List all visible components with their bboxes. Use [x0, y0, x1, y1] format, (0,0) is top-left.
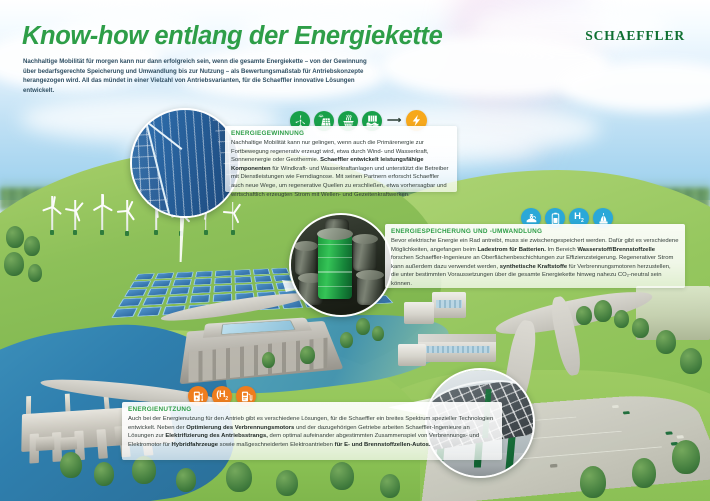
building-roof: [418, 334, 496, 342]
tree: [372, 326, 384, 341]
solar-panel-photo-callout: [130, 108, 240, 218]
tree: [632, 458, 656, 488]
tree: [576, 306, 592, 325]
energiegewinnung-body: Nachhaltige Mobilität kann nur gelingen,…: [231, 139, 452, 199]
tree: [28, 264, 42, 282]
text-run-bold: Elektrifizierung des Antriebsstrangs,: [165, 433, 268, 439]
energiespeicherung-heading: ENERGIESPEICHERUNG UND -UMWANDLUNG: [391, 228, 679, 235]
energienutzung-panel: ENERGIENUTZUNG Auch bei der Energienutzu…: [122, 402, 502, 460]
page-subtitle: Nachhaltige Mobilität für morgen kann nu…: [23, 57, 368, 95]
text-run-bold: für E- und Brennstoffzellen-Autos.: [335, 442, 431, 448]
building: [398, 344, 426, 366]
wind-turbine: [92, 194, 112, 234]
tree: [60, 452, 82, 478]
car: [623, 411, 630, 414]
text-run: Im Bereich: [546, 247, 577, 253]
tree: [4, 252, 24, 276]
car: [665, 431, 673, 435]
tree: [94, 462, 114, 486]
tree: [262, 352, 275, 368]
tree: [132, 456, 156, 484]
tree: [632, 318, 649, 338]
tree: [330, 462, 354, 490]
text-run-bold: Wasserstoff/Brennstoffzelle: [577, 247, 655, 253]
arrow-right-icon: ⟶: [387, 116, 401, 126]
building-windows: [436, 300, 462, 308]
text-run-bold: synthetische Kraftstoffe: [500, 264, 567, 270]
text-run-bold: Optimierung des Verbrennungsmotors: [186, 425, 294, 431]
tree: [594, 300, 612, 322]
energienutzung-heading: ENERGIENUTZUNG: [128, 406, 496, 413]
car: [612, 405, 619, 408]
energiespeicherung-body: Bevor elektrische Energie ein Rad antrei…: [391, 237, 679, 289]
tree: [656, 330, 676, 354]
tree: [356, 318, 370, 335]
tree: [680, 348, 702, 374]
building: [404, 302, 434, 324]
tree: [24, 236, 40, 256]
tree: [226, 462, 252, 492]
tree: [580, 466, 606, 498]
hydrogen-label: (H2: [216, 390, 227, 402]
text-run: sowie maßgeschneiderten Elektroantrieben: [218, 442, 335, 448]
building-windows: [424, 346, 490, 353]
tree: [6, 226, 24, 248]
text-run-bold: Hybridfahrzeuge: [172, 442, 218, 448]
infographic-poster: Know-how entlang der Energiekette Nachha…: [0, 0, 710, 501]
wind-turbine: [66, 200, 84, 234]
energiespeicherung-panel: ENERGIESPEICHERUNG UND -UMWANDLUNG Bevor…: [385, 224, 685, 288]
hydrogen-label: H2: [574, 212, 584, 224]
tree: [176, 468, 196, 492]
wind-turbine: [42, 196, 62, 234]
tree: [340, 332, 353, 348]
schaeffler-logo: SCHAEFFLER: [585, 28, 685, 44]
energiegewinnung-heading: ENERGIEGEWINNUNG: [231, 130, 452, 137]
tree: [300, 346, 315, 364]
car: [550, 464, 558, 468]
tree: [672, 440, 700, 474]
energiegewinnung-panel: ENERGIEGEWINNUNG Nachhaltige Mobilität k…: [225, 126, 457, 192]
poster-header: Know-how entlang der Energiekette Nachha…: [0, 0, 710, 105]
tree: [276, 470, 298, 496]
text-run-bold: Ladestrom für Batterien.: [477, 247, 545, 253]
tree: [614, 310, 629, 328]
car: [676, 435, 684, 439]
battery-storage-photo-callout: [289, 213, 393, 317]
energienutzung-body: Auch bei der Energienutzung für den Antr…: [128, 415, 496, 449]
tree: [380, 474, 400, 498]
page-title: Know-how entlang der Energiekette: [22, 22, 442, 51]
